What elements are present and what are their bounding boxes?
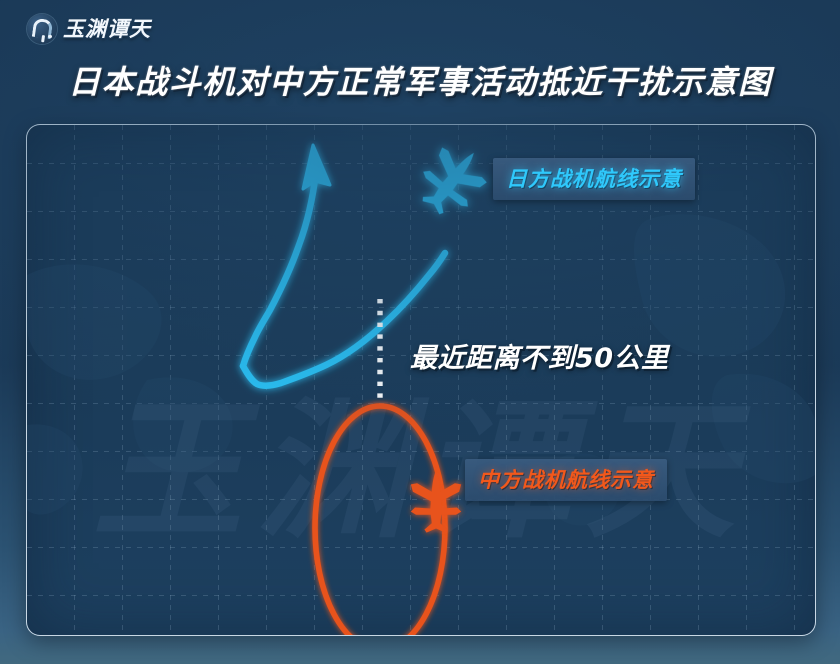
flight-routes: [27, 125, 815, 635]
infographic-page: 玉渊谭天 日本战斗机对中方正常军事活动抵近干扰示意图: [0, 0, 840, 664]
distance-annotation: 最近距离不到50公里: [410, 336, 669, 375]
china-route-track: [315, 406, 445, 635]
legend-badge-japan-route: 日方战机航线示意: [493, 158, 695, 200]
landmass-shapes: [27, 125, 815, 635]
page-title: 日本战斗机对中方正常军事活动抵近干扰示意图: [68, 57, 772, 103]
china-fighter-jet-icon: [411, 471, 461, 533]
brand-logo: 玉渊谭天: [27, 14, 151, 44]
hook-logo-icon: [27, 14, 57, 44]
map-panel: 玉渊谭天: [26, 124, 816, 636]
header: 玉渊谭天 日本战斗机对中方正常军事活动抵近干扰示意图: [0, 0, 840, 112]
legend-badge-china-route: 中方战机航线示意: [465, 459, 667, 501]
brand-name: 玉渊谭天: [63, 14, 151, 44]
